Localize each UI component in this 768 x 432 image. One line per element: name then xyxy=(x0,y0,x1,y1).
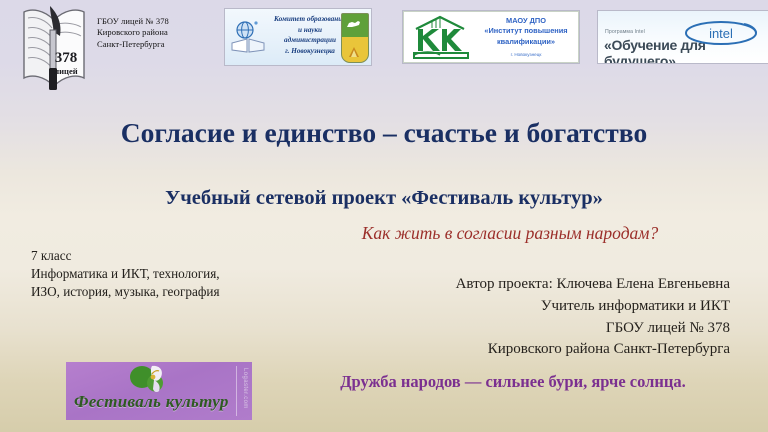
book-with-globe-icon xyxy=(230,19,266,55)
ipk-city-text: г. Новокузнецк xyxy=(476,52,576,57)
author-line-school: ГБОУ лицей № 378 xyxy=(330,318,730,340)
lyceum-emblem-icon: 378 лицей xyxy=(14,2,94,98)
logo-institut-povysheniya-kvalifikacii: МАОУ ДПО «Институт повышения квалификаци… xyxy=(402,10,580,64)
festival-logo-divider xyxy=(236,366,237,416)
novokuznetsk-coat-of-arms-icon xyxy=(341,13,369,63)
festival-logo-name: Фестиваль культур xyxy=(74,392,229,412)
driving-question-text: Как жить в согласии разным народам? xyxy=(300,222,720,244)
lyceum-word: лицей xyxy=(54,66,77,76)
ipk-title-text: МАОУ ДПО «Институт повышения квалификаци… xyxy=(476,16,576,47)
author-line-name: Автор проекта: Ключева Елена Евгеньевна xyxy=(330,274,730,296)
lyceum-number: 378 xyxy=(55,50,78,66)
ipk-monogram-icon xyxy=(410,15,474,61)
lyceum-address-text: ГБОУ лицей № 378 Кировского района Санкт… xyxy=(97,16,169,50)
presentation-slide: 378 лицей ГБОУ лицей № 378 Кировского ра… xyxy=(0,0,768,432)
intel-wordmark: intel xyxy=(709,26,733,41)
author-line-role: Учитель информатики и ИКТ xyxy=(330,296,730,318)
intel-oval-logo-icon: intel xyxy=(684,21,758,45)
slide-subtitle: Учебный сетевой проект «Фестиваль культу… xyxy=(84,186,684,211)
grade-and-subjects-text: 7 класс Информатика и ИКТ, технология, И… xyxy=(31,247,301,302)
slide-title: Согласие и единство – счастье и богатств… xyxy=(104,116,664,149)
logo-intel-obuchenie-dlya-budushchego: Программа Intel «Обучение для будущего» … xyxy=(597,10,768,64)
author-block: Автор проекта: Ключева Елена Евгеньевна … xyxy=(330,274,730,361)
intel-program-text: Программа Intel xyxy=(605,29,645,35)
butterfly-icon xyxy=(128,364,172,394)
logo-komitet-obrazovaniya: Комитет образования и науки администраци… xyxy=(224,8,372,66)
closing-quote-text: Дружба народов — сильнее бури, ярче солн… xyxy=(274,371,752,392)
author-line-district: Кировского района Санкт-Петербурга xyxy=(330,339,730,361)
festival-kultur-logo: Фестиваль культур Logaster.com xyxy=(66,362,252,420)
festival-logo-watermark: Logaster.com xyxy=(242,368,248,409)
slide-header: 378 лицей ГБОУ лицей № 378 Кировского ра… xyxy=(0,0,768,98)
